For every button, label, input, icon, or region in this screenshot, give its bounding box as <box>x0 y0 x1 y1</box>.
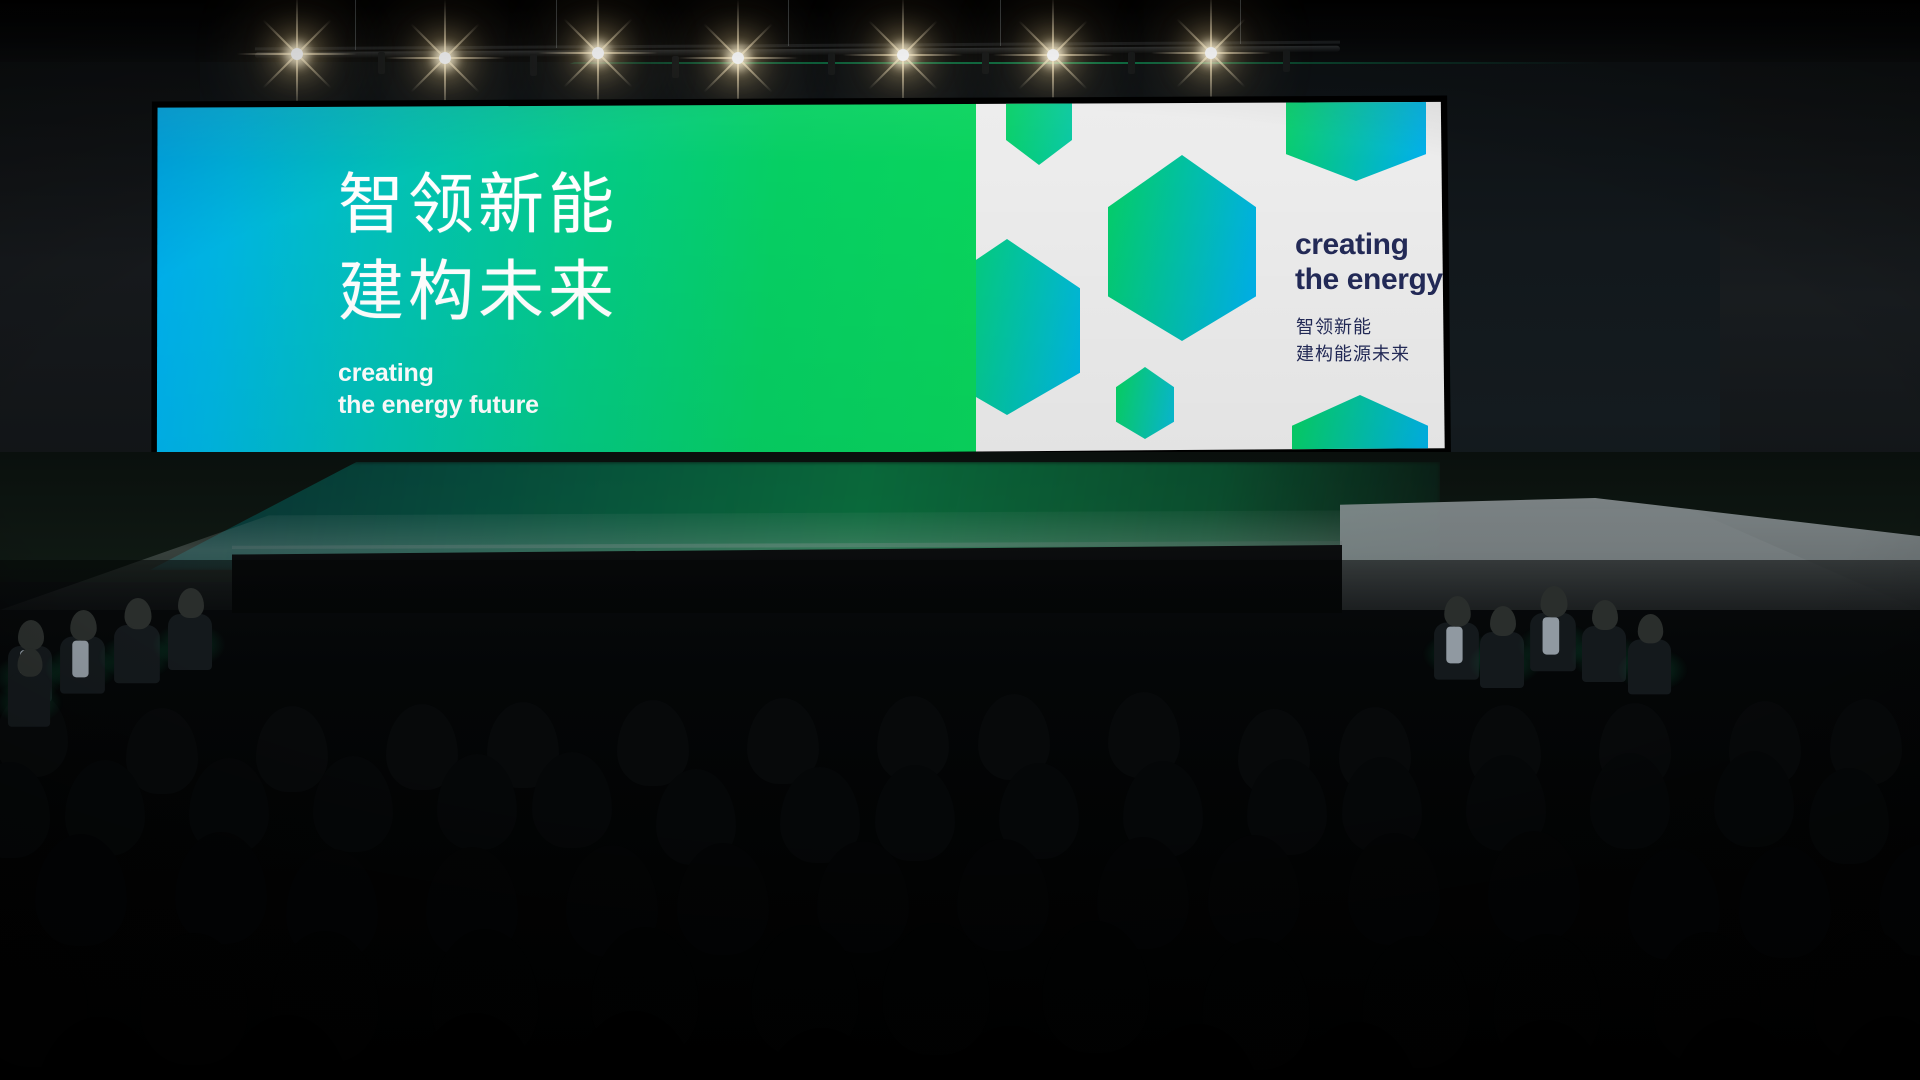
light-fixture <box>530 54 537 76</box>
vip-head <box>1592 600 1618 630</box>
vip-head <box>1490 606 1516 636</box>
headline-chinese-line2: 建构未来 <box>338 248 898 335</box>
tagline-english-right-line2: the energy future <box>1295 262 1446 297</box>
light-hanger <box>1240 0 1241 44</box>
vip-shirt <box>1543 617 1560 654</box>
vip-shirt <box>1446 627 1462 664</box>
audience-silhouette <box>0 762 50 858</box>
tagline-english-left-line2: the energy future <box>338 389 539 421</box>
hexagon-small-lower <box>1116 367 1174 439</box>
light-fixture <box>1283 50 1290 72</box>
tagline-chinese-right-line1: 智领新能 <box>1296 314 1410 341</box>
vip-body <box>168 614 212 670</box>
light-fixture <box>378 52 385 74</box>
vip-head <box>1444 596 1471 627</box>
vip-head <box>18 620 44 650</box>
vip-head <box>124 598 151 629</box>
audience-silhouette <box>1348 833 1440 945</box>
tagline-english-left-line1: creating <box>338 357 539 389</box>
audience-silhouette <box>313 756 393 852</box>
hexagon-prism-large-mid <box>1108 155 1256 341</box>
light-fixture <box>982 52 989 74</box>
presentation-scene: 智领新能 建构未来 creating the energy future cre… <box>0 0 1920 1080</box>
light-hanger <box>355 0 356 50</box>
tagline-chinese-right: 智领新能 建构能源未来 <box>1296 314 1410 368</box>
vip-head <box>18 648 43 677</box>
vip-body <box>1628 639 1671 694</box>
headline-chinese-line1: 智领新能 <box>338 161 898 248</box>
headline-chinese: 智领新能 建构未来 <box>338 161 898 335</box>
light-hanger <box>556 0 557 48</box>
light-hanger <box>788 0 789 46</box>
led-left-gradient-panel: 智领新能 建构未来 creating the energy future <box>153 99 977 459</box>
tagline-english-right: creating the energy future <box>1295 227 1446 298</box>
audience-silhouette <box>1739 846 1831 958</box>
audience-silhouette <box>126 708 198 794</box>
led-wall-screen[interactable]: 智领新能 建构未来 creating the energy future cre… <box>153 99 1446 459</box>
vip-head <box>1540 586 1567 617</box>
vip-head <box>70 610 97 641</box>
tagline-english-right-line1: creating <box>1295 227 1446 262</box>
light-fixture <box>672 56 679 78</box>
vip-head <box>1638 614 1663 643</box>
audience-silhouette <box>617 700 689 786</box>
audience-silhouette <box>175 832 267 944</box>
hexagon-prism-left-cut <box>976 239 1080 415</box>
vip-shirt <box>72 641 88 678</box>
light-hanger <box>1000 0 1001 46</box>
audience-silhouette <box>875 765 955 861</box>
vip-body <box>8 673 50 727</box>
vip-head <box>178 588 204 618</box>
hexagon-prism-top-right <box>1286 99 1426 181</box>
hexagon-prism-top-left <box>1006 99 1072 165</box>
audience-silhouette <box>140 933 248 1065</box>
audience-silhouette <box>256 706 328 792</box>
audience-silhouette <box>532 752 612 848</box>
tagline-english-left: creating the energy future <box>338 357 539 421</box>
tagline-chinese-right-line2: 建构能源未来 <box>1296 341 1410 368</box>
light-fixture <box>1128 52 1135 74</box>
light-fixture <box>828 53 835 75</box>
